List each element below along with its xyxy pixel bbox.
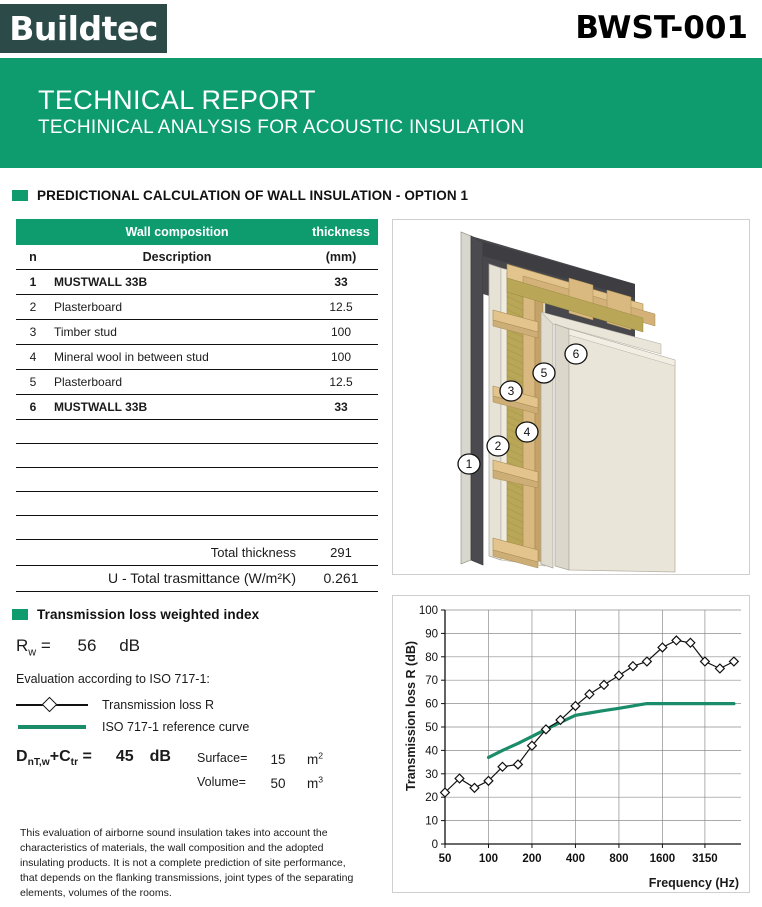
callout-3: 3 [500,381,522,401]
surface-value: 15 [259,748,297,772]
rw-symbol: Rw [16,636,36,655]
wall-composition-table: Wall composition thickness n Description… [16,219,378,592]
calculation-section-heading: PREDICTIONAL CALCULATION OF WALL INSULAT… [6,188,468,203]
row-index: 6 [16,394,50,419]
report-subtitle: TECHINICAL ANALYSIS FOR ACOUSTIC INSULAT… [38,118,762,139]
volume-value: 50 [259,772,297,796]
rw-value: 56 [78,636,97,655]
legend-item-transmission-loss: Transmission loss R [16,698,378,712]
surface-label: Surface= [197,748,259,772]
table-row: 3 Timber stud 100 [16,319,378,344]
svg-text:10: 10 [425,816,438,828]
row-thickness: 33 [304,269,378,294]
group-header-spacer [16,219,50,245]
total-thickness-row: Total thickness 291 [16,539,378,565]
legend-label: Transmission loss R [102,698,214,712]
table-row: 5 Plasterboard 12.5 [16,369,378,394]
table-row: 2 Plasterboard 12.5 [16,294,378,319]
surface-volume-block: Surface= 15 m2 Volume= 50 m3 [197,748,323,795]
column-header-n: n [16,245,50,269]
svg-text:3150: 3150 [692,853,718,865]
svg-text:30: 30 [425,769,438,781]
surface-line: Surface= 15 m2 [197,748,323,772]
transmittance-row: U - Total trasmittance (W/m²K) 0.261 [16,565,378,591]
wall-section-diagram: 1 2 3 4 5 6 [392,219,750,575]
svg-text:20: 20 [425,792,438,804]
svg-text:100: 100 [479,853,498,865]
svg-text:80: 80 [425,652,438,664]
chart-plot-svg: 0102030405060708090100501002004008001600… [393,596,749,892]
table-group-header-row: Wall composition thickness [16,219,378,245]
svg-text:6: 6 [573,347,580,361]
svg-text:60: 60 [425,699,438,711]
row-index: 5 [16,369,50,394]
row-index: 4 [16,344,50,369]
document-code: BWST-001 [575,10,748,46]
dnt-unit: dB [150,748,171,766]
svg-text:3: 3 [508,384,515,398]
title-banner: TECHNICAL REPORT TECHINICAL ANALYSIS FOR… [0,58,762,168]
svg-text:200: 200 [522,853,541,865]
brand-logo: Buildtec [0,4,167,53]
callout-4: 4 [516,422,538,442]
row-thickness: 12.5 [304,294,378,319]
table-empty-row [16,491,378,515]
svg-text:50: 50 [425,722,438,734]
legend-label: ISO 717-1 reference curve [102,720,249,734]
table-empty-row [16,419,378,443]
disclaimer-note: This evaluation of airborne sound insula… [20,826,366,901]
report-title: TECHNICAL REPORT [38,86,762,115]
row-index: 1 [16,269,50,294]
legend-item-iso-reference: ISO 717-1 reference curve [16,720,378,734]
rw-unit: dB [119,636,140,655]
square-bullet-icon [12,609,28,620]
transmission-loss-chart: Transmission loss R (dB) 010203040506070… [392,595,750,893]
row-description: MUSTWALL 33B [50,394,304,419]
row-description: Plasterboard [50,294,304,319]
calculation-heading-text: PREDICTIONAL CALCULATION OF WALL INSULAT… [37,188,468,203]
group-header-composition: Wall composition [50,219,304,245]
chart-x-axis-label: Frequency (Hz) [649,876,739,890]
svg-text:1: 1 [466,457,473,471]
acoustic-index-block: Rw = 56 dB Evaluation according to ISO 7… [16,636,378,796]
surface-unit: m2 [307,748,323,772]
volume-unit: m3 [307,772,323,796]
index-heading-text: Transmission loss weighted index [37,607,259,622]
callout-5: 5 [533,363,555,383]
volume-label: Volume= [197,772,259,796]
page-header: Buildtec BWST-001 [0,0,762,58]
wall-diagram-svg: 1 2 3 4 5 6 [393,220,749,574]
svg-text:90: 90 [425,628,438,640]
row-thickness: 12.5 [304,369,378,394]
svg-text:5: 5 [541,366,548,380]
column-header-unit: (mm) [304,245,378,269]
svg-text:40: 40 [425,745,438,757]
callout-1: 1 [458,454,480,474]
table-row: 1 MUSTWALL 33B 33 [16,269,378,294]
rw-line: Rw = 56 dB [16,636,378,658]
rw-equals: = [41,636,51,655]
row-index: 3 [16,319,50,344]
row-description: Mineral wool in between stud [50,344,304,369]
row-description: Timber stud [50,319,304,344]
row-description: Plasterboard [50,369,304,394]
evaluation-standard-text: Evaluation according to ISO 717-1: [16,672,378,686]
table-empty-row [16,467,378,491]
svg-text:0: 0 [432,839,438,851]
svg-text:50: 50 [439,853,452,865]
table-row: 4 Mineral wool in between stud 100 [16,344,378,369]
transmittance-value: 0.261 [304,565,378,591]
table-empty-row [16,443,378,467]
dnt-value: 45 [116,748,134,766]
row-index: 2 [16,294,50,319]
diamond-line-marker-icon [16,698,88,712]
dnt-row: DnT,w+Ctr = 45 dB Surface= 15 m2 Volume=… [16,748,378,795]
callout-6: 6 [565,344,587,364]
svg-text:4: 4 [524,425,531,439]
svg-text:70: 70 [425,675,438,687]
index-section-heading: Transmission loss weighted index [6,607,259,622]
green-line-marker-icon [16,720,88,734]
volume-line: Volume= 50 m3 [197,772,323,796]
svg-text:100: 100 [419,605,438,617]
row-description: MUSTWALL 33B [50,269,304,294]
svg-text:2: 2 [495,439,502,453]
total-thickness-value: 291 [304,539,378,565]
callout-2: 2 [487,436,509,456]
row-thickness: 100 [304,344,378,369]
dnt-symbol: DnT,w+Ctr = [16,748,92,768]
table-empty-row [16,515,378,539]
row-thickness: 33 [304,394,378,419]
svg-text:1600: 1600 [650,853,676,865]
svg-text:800: 800 [609,853,628,865]
table-row: 6 MUSTWALL 33B 33 [16,394,378,419]
group-header-thickness: thickness [304,219,378,245]
square-bullet-icon [12,190,28,201]
transmittance-label: U - Total trasmittance (W/m²K) [16,565,304,591]
table-column-header-row: n Description (mm) [16,245,378,269]
row-thickness: 100 [304,319,378,344]
column-header-description: Description [50,245,304,269]
svg-text:400: 400 [566,853,585,865]
brand-logo-text: Buildtec [9,9,158,48]
total-thickness-label: Total thickness [16,539,304,565]
